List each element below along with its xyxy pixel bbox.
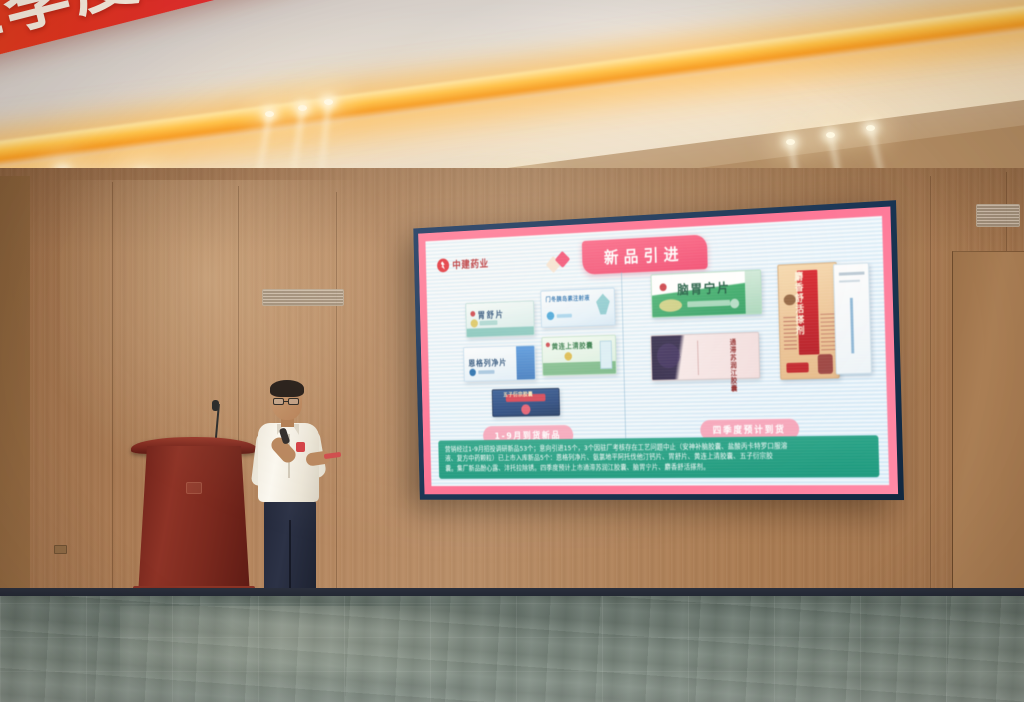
product-label: 通滞苏润江胶囊 [728,338,738,392]
screen-bezel: 中建药业 新品引进 [413,200,904,500]
company-logo: 中建药业 [437,256,489,272]
wall-panel-seam [112,182,113,596]
wall-panel-seam [336,192,337,596]
product-label: 脑胃宁片 [677,278,731,299]
product-label: 胃舒片 [478,308,505,321]
product-box [777,262,839,380]
product-label: 恩格列净片 [468,357,507,369]
product-label: 麝香舒活搽剂 [790,271,805,336]
ceiling-downlight [786,139,795,145]
product-label: 黄连上清胶囊 [552,340,594,352]
wall-outlet [54,545,67,554]
product-label: 门冬胰岛素注射液 [545,293,590,303]
slide-pink-border: 中建药业 新品引进 [418,206,898,494]
summary-text-box: 营销经过1-9月招投调研新品53个；意向引进15个，3个因驻厂考核存在工艺问题中… [438,435,879,479]
product-label: 五子衍宗胶囊 [503,390,533,398]
presentation-slide: 中建药业 新品引进 [425,216,889,486]
product-box [650,332,760,381]
presenter-hair [270,380,304,397]
column-divider [621,272,626,452]
ceiling-downlight [265,111,274,117]
shirt-logo [296,442,305,452]
carpet-floor [0,596,1024,702]
podium [138,446,250,596]
conference-room-photo: 三季度工作总结暨四季度 中建药业 [0,0,1024,702]
door[interactable] [952,251,1024,593]
glasses-icon [273,398,284,405]
slide-title: 新品引进 [581,234,707,274]
product-leaflet [833,262,872,374]
ceiling-downlight [866,125,875,131]
ceiling-downlight [324,99,333,105]
left-wall-return [0,176,30,648]
air-vent-right [976,204,1020,227]
ceiling-downlight [298,105,307,111]
brand-name-label: 中建药业 [452,256,489,272]
glasses-bridge [284,401,288,402]
led-display-wall[interactable]: 中建药业 新品引进 [413,200,904,500]
podium-emblem [186,482,202,494]
glasses-icon [288,398,299,405]
wall-panel-seam [930,176,931,596]
product-brand-dot-icon [546,342,550,347]
trouser-crease [289,520,291,596]
ceiling-downlight [826,132,835,138]
air-vent-left [262,289,344,306]
brand-mark-icon [437,258,449,272]
